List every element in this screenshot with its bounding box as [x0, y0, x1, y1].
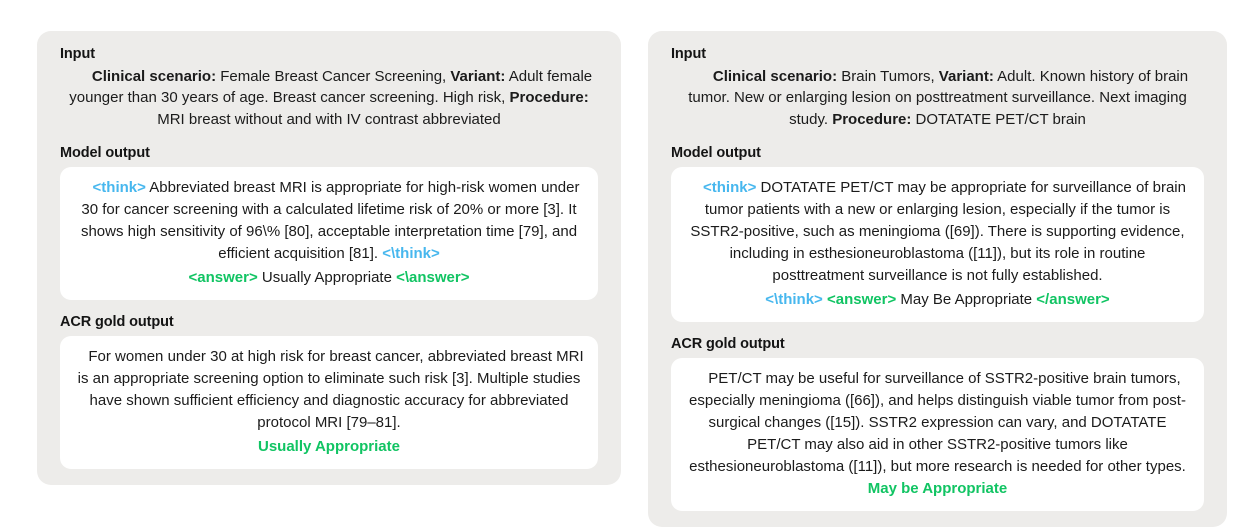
answer-open-tag-right: <answer>: [827, 291, 896, 308]
model-output-text-left: <think> Abbreviated breast MRI is approp…: [74, 177, 584, 288]
comparison-figure: Input Clinical scenario: Female Breast C…: [0, 0, 1241, 492]
gold-output-body-right: PET/CT may be useful for surveillance of…: [689, 370, 1186, 475]
example-panel-left: Input Clinical scenario: Female Breast C…: [37, 31, 621, 485]
gold-verdict-right: May be Appropriate: [868, 480, 1007, 497]
model-output-card-right: <think> DOTATATE PET/CT may be appropria…: [671, 167, 1204, 321]
input-value-scenario-left: Female Breast Cancer Screening,: [216, 68, 450, 85]
think-open-tag-right: <think>: [703, 179, 756, 196]
input-label-left: Input: [60, 45, 598, 65]
gold-output-text-left: For women under 30 at high risk for brea…: [74, 346, 584, 457]
model-output-label-left: Model output: [60, 144, 598, 164]
gold-verdict-left: Usually Appropriate: [74, 436, 584, 458]
input-text-left: Clinical scenario: Female Breast Cancer …: [60, 66, 598, 131]
model-answer-line-left: <answer> Usually Appropriate <\answer>: [74, 267, 584, 289]
input-key-procedure-left: Procedure:: [510, 89, 589, 106]
input-key-variant-right: Variant:: [939, 68, 994, 85]
model-answer-text-left: Usually Appropriate: [258, 269, 396, 286]
example-panel-right: Input Clinical scenario: Brain Tumors, V…: [648, 31, 1227, 527]
input-text-right: Clinical scenario: Brain Tumors, Variant…: [671, 66, 1204, 131]
answer-open-tag-left: <answer>: [188, 269, 257, 286]
model-reasoning-left: Abbreviated breast MRI is appropriate fo…: [81, 179, 580, 262]
model-output-text-right: <think> DOTATATE PET/CT may be appropria…: [685, 177, 1190, 310]
gold-output-text-right: PET/CT may be useful for surveillance of…: [685, 368, 1190, 499]
model-output-card-left: <think> Abbreviated breast MRI is approp…: [60, 167, 598, 299]
gold-output-label-right: ACR gold output: [671, 335, 1204, 355]
input-key-procedure-right: Procedure:: [832, 111, 911, 128]
input-key-scenario-right: Clinical scenario:: [713, 68, 837, 85]
input-value-procedure-right: DOTATATE PET/CT brain: [911, 111, 1085, 128]
answer-close-tag-left: <\answer>: [396, 269, 469, 286]
think-close-tag-left: <\think>: [382, 245, 440, 262]
input-key-variant-left: Variant:: [450, 68, 505, 85]
gold-output-label-left: ACR gold output: [60, 313, 598, 333]
model-answer-text-right: May Be Appropriate: [896, 291, 1036, 308]
gold-output-card-right: PET/CT may be useful for surveillance of…: [671, 358, 1204, 510]
answer-close-tag-right: </answer>: [1036, 291, 1109, 308]
gold-output-card-left: For women under 30 at high risk for brea…: [60, 336, 598, 468]
input-value-procedure-left: MRI breast without and with IV contrast …: [157, 111, 501, 128]
input-key-scenario-left: Clinical scenario:: [92, 68, 216, 85]
input-label-right: Input: [671, 45, 1204, 65]
model-output-label-right: Model output: [671, 144, 1204, 164]
gold-output-body-left: For women under 30 at high risk for brea…: [78, 348, 584, 431]
input-value-scenario-right: Brain Tumors,: [837, 68, 939, 85]
think-open-tag-left: <think>: [93, 179, 146, 196]
model-reasoning-right: DOTATATE PET/CT may be appropriate for s…: [690, 179, 1186, 284]
model-answer-line-right: <\think> <answer> May Be Appropriate </a…: [685, 289, 1190, 311]
think-close-tag-right: <\think>: [765, 291, 823, 308]
